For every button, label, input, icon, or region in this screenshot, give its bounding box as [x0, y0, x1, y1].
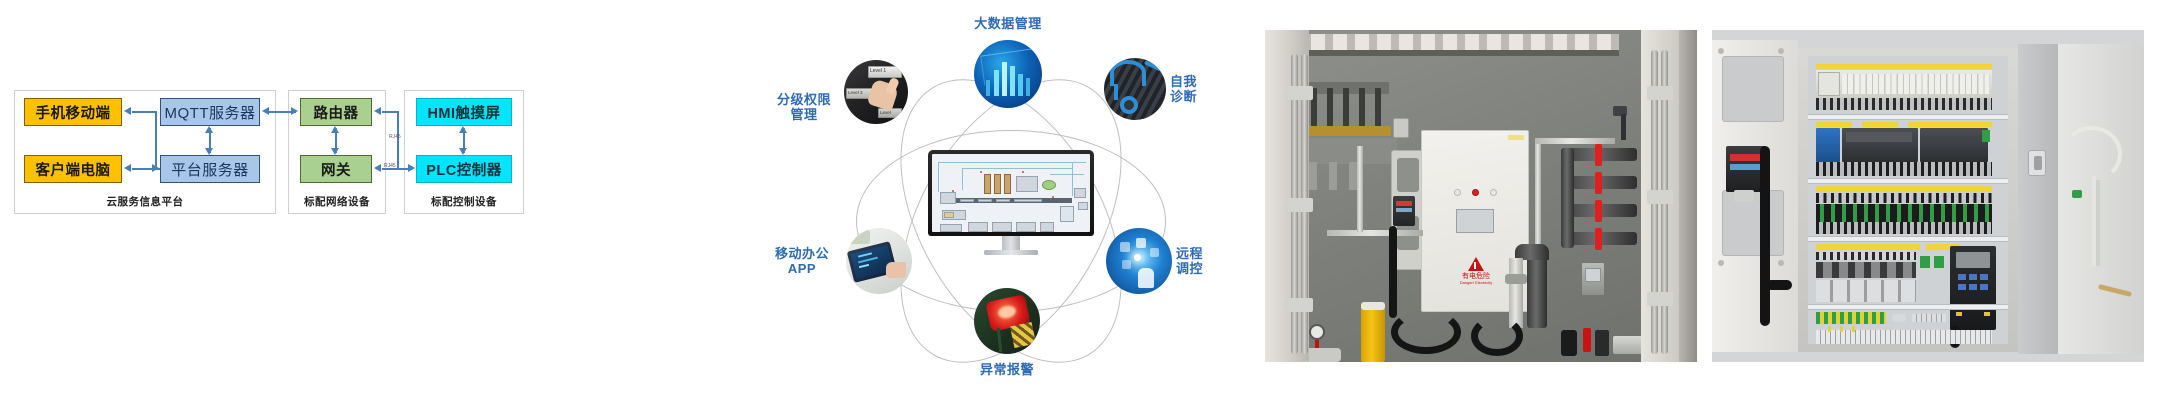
group-cloud-platform-caption: 云服务信息平台: [15, 194, 275, 209]
node-plc-controller[interactable]: PLC控制器: [416, 155, 512, 183]
bubble-alarm[interactable]: [974, 288, 1040, 354]
equipment-cabinet-photo: 有电危险 Danger! Electricity: [1265, 30, 1697, 362]
arrow-hmi-up: [459, 126, 467, 133]
bubble-remote-control[interactable]: [1106, 228, 1172, 294]
arrow-mqtt-up: [205, 126, 213, 133]
arrow-gateway-rj45: [374, 164, 381, 172]
monitor-neck: [1002, 236, 1020, 250]
arrow-plc-down: [459, 148, 467, 155]
node-hmi-touchscreen[interactable]: HMI触摸屏: [416, 98, 512, 126]
bubble-mobile-app[interactable]: [846, 228, 912, 294]
node-desktop-client[interactable]: 客户端电脑: [24, 155, 122, 183]
node-gateway[interactable]: 网关: [300, 155, 372, 183]
monitor-screen: [932, 154, 1090, 232]
arrow-to-mobile: [124, 107, 131, 115]
label-remote-control: 远程 调控: [1176, 246, 1238, 277]
label-mobile-app: 移动办公 APP: [762, 246, 842, 277]
wire-label-rj45-top: RJ45: [389, 134, 401, 140]
arrow-gateway-down: [331, 148, 339, 155]
variable-frequency-drive: [1950, 246, 1996, 330]
danger-label-en: Danger! Electricity: [1440, 281, 1512, 285]
arrow-router-up: [331, 126, 339, 133]
platform-capability-wheel: 大数据管理 自我 诊断 远程 调控 异常报警 移动办公: [760, 0, 1260, 400]
group-control-devices-caption: 标配控制设备: [405, 194, 523, 209]
monitor-bezel: [928, 150, 1094, 236]
bubble-permission[interactable]: Level 1 Level 3 Level: [844, 60, 908, 124]
connector-router-rj45: [382, 111, 398, 113]
arrow-to-client: [124, 164, 131, 172]
node-mqtt-server[interactable]: MQTT服务器: [160, 98, 260, 126]
node-platform-server[interactable]: 平台服务器: [160, 155, 260, 183]
connector-bus-vertical: [155, 111, 157, 169]
plc-control-cabinet-photo: [1712, 30, 2144, 362]
label-alarm: 异常报警: [957, 362, 1057, 377]
node-router[interactable]: 路由器: [300, 98, 372, 126]
group-network-devices-caption: 标配网络设备: [289, 194, 385, 209]
monitor-base: [984, 250, 1038, 255]
arrow-platform-down: [205, 148, 213, 155]
label-bigdata: 大数据管理: [958, 16, 1058, 31]
arrow-to-platform: [152, 164, 159, 172]
connector-rj45-vertical: [397, 111, 399, 169]
bubble-bigdata[interactable]: [974, 40, 1042, 108]
bubble-selfdiagnosis[interactable]: [1104, 58, 1166, 120]
arrow-router-right: [291, 107, 298, 115]
danger-label: 有电危险: [1446, 273, 1506, 280]
arrow-to-plc: [408, 164, 415, 172]
system-architecture-block-diagram: 云服务信息平台 标配网络设备 标配控制设备 手机移动端 客户端电脑 MQTT服务…: [0, 0, 760, 400]
arrow-mqtt-left: [262, 107, 269, 115]
central-monitor: [928, 150, 1094, 258]
arrow-router-rj45: [374, 107, 381, 115]
wire-label-rj45-bottom: RJ45: [384, 163, 396, 169]
label-selfdiagnosis: 自我 诊断: [1170, 74, 1232, 105]
label-permission: 分级权限 管理: [766, 92, 842, 123]
node-mobile-client[interactable]: 手机移动端: [24, 98, 122, 126]
connector-mobile-bus: [132, 111, 156, 113]
